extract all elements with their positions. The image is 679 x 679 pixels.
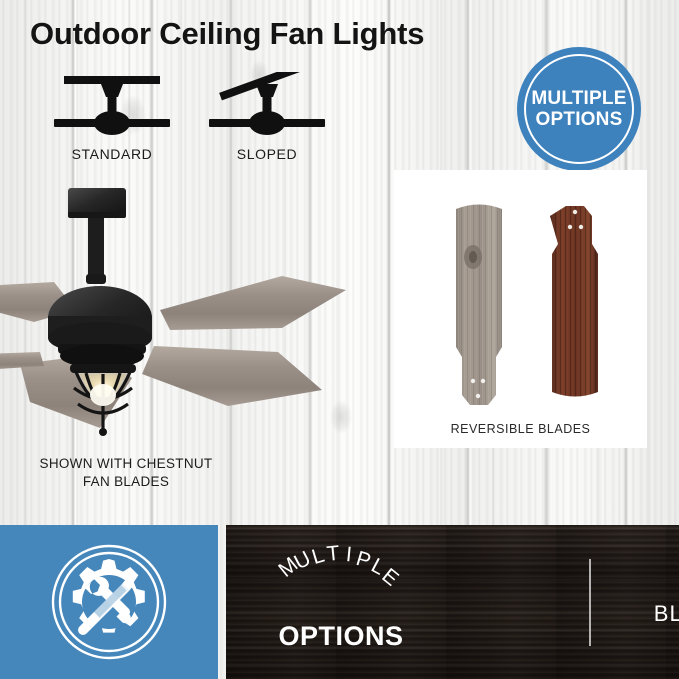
arc-letter: T (326, 542, 341, 567)
sloped-mount-icon (207, 72, 327, 142)
multiple-arc-text: MULTIPLE (251, 543, 431, 623)
mount-option-standard: STANDARD (52, 72, 172, 164)
infographic-canvas: Outdoor Ceiling Fan Lights STANDARD SLOP… (0, 0, 679, 679)
bottom-banner: MULTIPLE OPTIONS CHESTNUT OR BLACK CHEST… (0, 525, 679, 679)
badge-line-2: OPTIONS (531, 109, 626, 130)
ceiling-fan-photo (0, 178, 382, 453)
arc-letter: I (345, 543, 353, 567)
fan-blades (0, 276, 346, 428)
badge-line-1: MULTIPLE (531, 88, 626, 109)
standard-mount-icon (52, 72, 172, 142)
reversible-blades-caption: REVERSIBLE BLADES (394, 422, 647, 436)
fan-caption-line-1: SHOWN WITH CHESTNUT (16, 455, 236, 473)
banner-copy-line-3: BLACK CHESTNUT (616, 601, 679, 628)
banner-right-panel: MULTIPLE OPTIONS CHESTNUT OR BLACK CHEST… (226, 525, 679, 679)
blade-black-chestnut (550, 206, 598, 397)
banner-copy: CHESTNUT OR BLACK CHESTNUT BLADES (616, 547, 679, 654)
multiple-options-badge: MULTIPLE OPTIONS (517, 47, 641, 171)
fan-photo-caption: SHOWN WITH CHESTNUT FAN BLADES (16, 455, 236, 491)
banner-copy-line-2: OR (616, 574, 679, 601)
banner-copy-line-4: BLADES (616, 627, 679, 654)
gear-tools-icon (50, 543, 168, 661)
banner-left-panel (0, 525, 218, 679)
mount-label-standard: STANDARD (52, 146, 172, 162)
banner-divider (589, 559, 591, 646)
mount-label-sloped: SLOPED (207, 146, 327, 162)
fan-caption-line-2: FAN BLADES (16, 473, 236, 491)
banner-copy-line-1: CHESTNUT (616, 547, 679, 574)
page-title: Outdoor Ceiling Fan Lights (30, 16, 424, 52)
blade-pair-illustration (394, 178, 647, 408)
banner-multiple-options: MULTIPLE OPTIONS (251, 543, 431, 661)
banner-options-label: OPTIONS (251, 621, 431, 652)
reversible-blades-card: REVERSIBLE BLADES (394, 170, 647, 448)
mount-option-sloped: SLOPED (207, 72, 327, 164)
ceiling-fan-illustration (0, 178, 382, 453)
blade-chestnut (456, 205, 502, 406)
badge-text: MULTIPLE OPTIONS (531, 88, 626, 131)
